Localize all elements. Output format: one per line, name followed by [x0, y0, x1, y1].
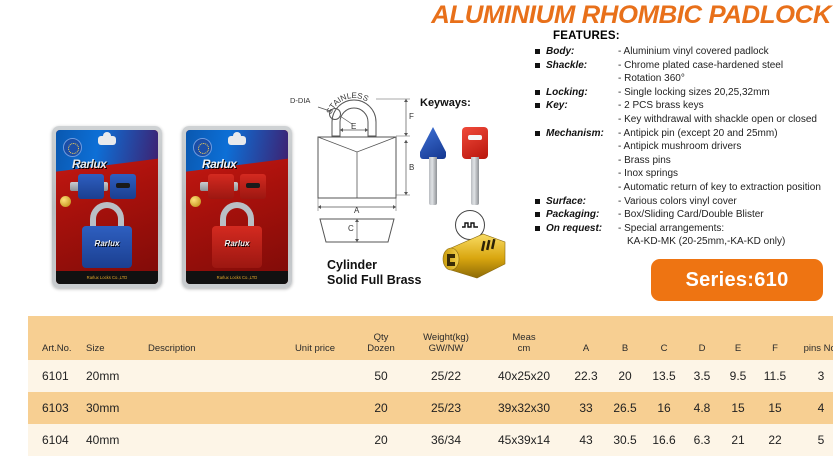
cell-d: 3.5: [684, 360, 720, 392]
column-header: E: [720, 316, 756, 360]
feature-row: Mechanism:- Antipick pin (except 20 and …: [535, 127, 833, 141]
blue-key-icon: [420, 127, 446, 159]
column-header-main: Unit price: [278, 343, 352, 354]
dim-f-label: F: [409, 112, 414, 121]
cell-size: 40mm: [86, 424, 148, 456]
bullet-icon: [535, 72, 546, 76]
column-header-main: Weight(kg): [410, 332, 482, 343]
cell-e: 9.5: [720, 360, 756, 392]
cell-qty_dozen: 20: [352, 392, 410, 424]
cell-size: 20mm: [86, 360, 148, 392]
feature-row: Surface:- Various colors vinyl cover: [535, 195, 833, 209]
table-header-row: Art.No.SizeDescriptionUnit priceQtyDozen…: [28, 316, 833, 360]
cell-f: 15: [756, 392, 794, 424]
cell-weight: 25/22: [410, 360, 482, 392]
bullet-icon: [535, 181, 546, 185]
dim-b-label: B: [409, 163, 414, 172]
cylinder-and-key-set: [70, 174, 144, 200]
feature-value: - Box/Sliding Card/Double Blister: [618, 208, 833, 222]
column-header-sub: F: [756, 343, 794, 354]
cell-e: 15: [720, 392, 756, 424]
cell-description: [148, 360, 278, 392]
cell-b: 20: [606, 360, 644, 392]
cell-b: 26.5: [606, 392, 644, 424]
cell-meas: 39x32x30: [482, 392, 566, 424]
cell-e: 21: [720, 424, 756, 456]
blister-card-blue: Rarlux Rarlux Rarlux Locks Co.,LTD: [56, 130, 158, 284]
feature-row: Packaging:- Box/Sliding Card/Double Blis…: [535, 208, 833, 222]
hang-hole: [98, 136, 116, 145]
bullet-icon: [535, 195, 546, 204]
cell-size: 30mm: [86, 392, 148, 424]
card-brand-label: Rarlux: [72, 157, 106, 171]
keyways-title: Keyways:: [420, 97, 530, 109]
cylinder-and-key-set: [200, 174, 274, 200]
feature-label: Body:: [546, 45, 618, 59]
feature-row: - Antipick mushroom drivers: [535, 140, 833, 154]
feature-value: - Chrome plated case-hardened steel: [618, 59, 833, 73]
column-header-sub: GW/NW: [410, 343, 482, 354]
padlock-brand-label: Rarlux: [82, 239, 132, 248]
feature-row: Key:- 2 PCS brass keys: [535, 99, 833, 113]
table-row[interactable]: 610330mm2025/2339x32x303326.5164.815154: [28, 392, 833, 424]
blister-card-red: Rarlux Rarlux Rarlux Locks Co.,LTD: [186, 130, 288, 284]
column-header: Art.No.: [28, 316, 86, 360]
cell-description: [148, 392, 278, 424]
cylinder-caption-line1: Cylinder: [327, 258, 377, 272]
column-header-sub: B: [606, 343, 644, 354]
cell-art_no: 6103: [28, 392, 86, 424]
column-header: D: [684, 316, 720, 360]
ce-emblem-icon: [193, 138, 212, 157]
column-header-main: Description: [148, 343, 278, 354]
brass-cylinder-photo: [437, 228, 509, 284]
feature-label: Shackle:: [546, 59, 618, 73]
column-header: QtyDozen: [352, 316, 410, 360]
column-header: Meascm: [482, 316, 566, 360]
product-photo-blue-padlock: Rarlux Rarlux Rarlux Locks Co.,LTD: [52, 126, 162, 288]
cell-c: 16: [644, 392, 684, 424]
specifications-table: Art.No.SizeDescriptionUnit priceQtyDozen…: [28, 316, 833, 456]
feature-row: On request:- Special arrangements:: [535, 222, 833, 236]
bullet-icon: [535, 208, 546, 217]
card-brand-label: Rarlux: [202, 157, 236, 171]
column-header: B: [606, 316, 644, 360]
column-header-sub: A: [566, 343, 606, 354]
padlock-dimension-svg: STAINLESS: [296, 74, 421, 244]
column-header-sub: cm: [482, 343, 566, 354]
card-footer-text: Rarlux Locks Co.,LTD: [186, 271, 288, 284]
key-head: [462, 127, 488, 159]
cell-weight: 36/34: [410, 424, 482, 456]
dim-c-label: C: [348, 224, 354, 233]
column-header: Unit price: [278, 316, 352, 360]
bullet-icon: [535, 154, 546, 158]
column-header: Size: [86, 316, 148, 360]
cell-art_no: 6101: [28, 360, 86, 392]
feature-label: On request:: [546, 222, 618, 236]
padlock-body: Rarlux: [212, 226, 262, 268]
table-row[interactable]: 610440mm2036/3445x39x144330.516.66.32122…: [28, 424, 833, 456]
series-badge: Series:610: [651, 259, 823, 301]
feature-row: Body:- Aluminium vinyl covered padlock: [535, 45, 833, 59]
feature-value: - 2 PCS brass keys: [618, 99, 833, 113]
key-blade: [429, 157, 437, 205]
feature-row: - Inox springs: [535, 167, 833, 181]
column-header: pins No.: [794, 316, 833, 360]
feature-value: - Inox springs: [618, 167, 833, 181]
cell-weight: 25/23: [410, 392, 482, 424]
cell-description: [148, 424, 278, 456]
cell-a: 33: [566, 392, 606, 424]
feature-row: Shackle:- Chrome plated case-hardened st…: [535, 59, 833, 73]
dim-e-label: E: [351, 122, 356, 131]
key-head: [420, 127, 446, 159]
column-header-sub: D: [684, 343, 720, 354]
feature-value: - Various colors vinyl cover: [618, 195, 833, 209]
feature-label: Surface:: [546, 195, 618, 209]
column-header: Description: [148, 316, 278, 360]
bullet-icon: [535, 86, 546, 95]
bullet-icon: [535, 235, 546, 239]
cell-unit_price: [278, 424, 352, 456]
product-photo-red-padlock: Rarlux Rarlux Rarlux Locks Co.,LTD: [182, 126, 292, 288]
feature-row: KA-KD-MK (20-25mm,-KA-KD only): [535, 235, 833, 249]
column-header-main: Art.No.: [42, 343, 86, 354]
hang-hole: [228, 136, 246, 145]
cell-d: 6.3: [684, 424, 720, 456]
cell-meas: 45x39x14: [482, 424, 566, 456]
bullet-icon: [535, 113, 546, 117]
feature-value: - Single locking sizes 20,25,32mm: [618, 86, 833, 100]
feature-row: - Key withdrawal with shackle open or cl…: [535, 113, 833, 127]
cell-art_no: 6104: [28, 424, 86, 456]
brass-cylinder-dot-icon: [60, 196, 71, 207]
table-body: 610120mm5025/2240x25x2022.32013.53.59.51…: [28, 360, 833, 456]
column-header-main: Meas: [482, 332, 566, 343]
feature-value: - Aluminium vinyl covered padlock: [618, 45, 833, 59]
cell-b: 30.5: [606, 424, 644, 456]
feature-value: - Antipick mushroom drivers: [618, 140, 833, 154]
feature-row: - Automatic return of key to extraction …: [535, 181, 833, 195]
bullet-icon: [535, 99, 546, 108]
bullet-icon: [535, 222, 546, 231]
brass-cylinder-svg: [437, 228, 509, 284]
cylinder-block-b: [240, 174, 266, 199]
features-heading: FEATURES:: [553, 30, 833, 42]
key-blade: [471, 157, 479, 205]
feature-label: Packaging:: [546, 208, 618, 222]
table-header: Art.No.SizeDescriptionUnit priceQtyDozen…: [28, 316, 833, 360]
cylinder-block-b: [110, 174, 136, 199]
cell-qty_dozen: 50: [352, 360, 410, 392]
feature-value: - Special arrangements:: [618, 222, 833, 236]
cell-pins: 5: [794, 424, 833, 456]
bullet-icon: [535, 167, 546, 171]
padlock-brand-label: Rarlux: [212, 239, 262, 248]
column-header: F: [756, 316, 794, 360]
table-row[interactable]: 610120mm5025/2240x25x2022.32013.53.59.51…: [28, 360, 833, 392]
column-header: C: [644, 316, 684, 360]
feature-value: - Rotation 360°: [618, 72, 833, 86]
keyways-section: Keyways:: [420, 97, 530, 217]
feature-row: - Rotation 360°: [535, 72, 833, 86]
column-header-main: Qty: [352, 332, 410, 343]
red-key-icon: [462, 127, 488, 159]
cell-f: 11.5: [756, 360, 794, 392]
cylinder-caption: Cylinder Solid Full Brass: [327, 258, 421, 288]
cell-a: 22.3: [566, 360, 606, 392]
brass-cylinder-dot-icon: [190, 196, 201, 207]
bullet-icon: [535, 140, 546, 144]
column-header-sub: C: [644, 343, 684, 354]
feature-row: Locking:- Single locking sizes 20,25,32m…: [535, 86, 833, 100]
feature-value: - Key withdrawal with shackle open or cl…: [618, 113, 833, 127]
padlock-body: Rarlux: [82, 226, 132, 268]
feature-value: KA-KD-MK (20-25mm,-KA-KD only): [618, 235, 833, 249]
column-header-main: Size: [86, 343, 148, 354]
feature-label: Locking:: [546, 86, 618, 100]
feature-row: - Brass pins: [535, 154, 833, 168]
page-title: ALUMINIUM RHOMBIC PADLOCK: [370, 2, 831, 28]
cell-pins: 4: [794, 392, 833, 424]
cell-a: 43: [566, 424, 606, 456]
cell-meas: 40x25x20: [482, 360, 566, 392]
features-list: Body:- Aluminium vinyl covered padlockSh…: [535, 45, 833, 249]
cell-qty_dozen: 20: [352, 424, 410, 456]
bullet-icon: [535, 127, 546, 136]
column-header-sub: pins No.: [794, 343, 833, 354]
bullet-icon: [535, 59, 546, 68]
column-header: Weight(kg)GW/NW: [410, 316, 482, 360]
ce-emblem-icon: [63, 138, 82, 157]
feature-value: - Automatic return of key to extraction …: [618, 181, 833, 195]
column-header: A: [566, 316, 606, 360]
cell-d: 4.8: [684, 392, 720, 424]
feature-label: Key:: [546, 99, 618, 113]
column-header-sub: E: [720, 343, 756, 354]
cell-c: 13.5: [644, 360, 684, 392]
feature-value: - Brass pins: [618, 154, 833, 168]
feature-label: Mechanism:: [546, 127, 618, 141]
cell-unit_price: [278, 360, 352, 392]
technical-drawing: STAINLESS D-DIA E F B A C: [296, 74, 421, 244]
cell-f: 22: [756, 424, 794, 456]
cylinder-caption-line2: Solid Full Brass: [327, 273, 421, 287]
column-header-sub: Dozen: [352, 343, 410, 354]
features-section: FEATURES: Body:- Aluminium vinyl covered…: [535, 30, 833, 249]
cylinder-block-a: [78, 174, 104, 199]
bullet-icon: [535, 45, 546, 54]
d-dia-label: D-DIA: [290, 96, 310, 105]
dim-a-label: A: [354, 206, 359, 215]
cylinder-block-a: [208, 174, 234, 199]
cell-pins: 3: [794, 360, 833, 392]
card-footer-text: Rarlux Locks Co.,LTD: [56, 271, 158, 284]
cell-unit_price: [278, 392, 352, 424]
feature-value: - Antipick pin (except 20 and 25mm): [618, 127, 833, 141]
cell-c: 16.6: [644, 424, 684, 456]
